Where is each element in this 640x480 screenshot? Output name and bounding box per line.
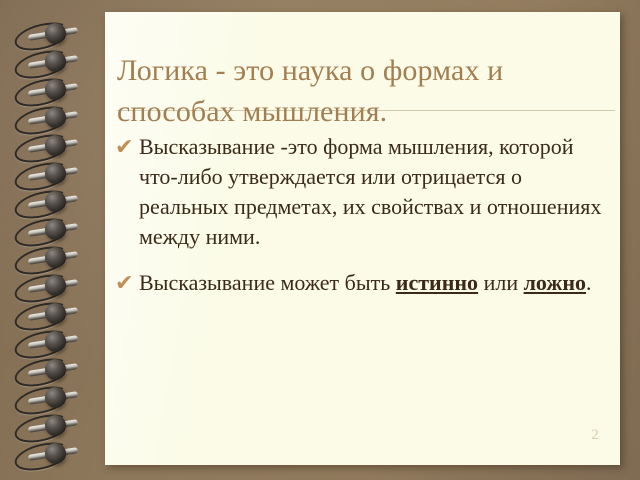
bullet-list: ✔Высказывание -это форма мышления, котор…: [105, 132, 605, 314]
spiral-ring-bead: [45, 163, 66, 184]
text-run: .: [586, 270, 592, 295]
text-run: или: [478, 270, 524, 295]
spiral-ring-bead: [45, 135, 66, 156]
check-icon: ✔: [115, 268, 133, 298]
bullet-text: Высказывание может быть истинно или ложн…: [139, 270, 592, 295]
spiral-ring-bead: [45, 275, 66, 296]
text-run: Высказывание может быть: [139, 270, 396, 295]
spiral-ring-bead: [45, 415, 66, 436]
page-number: 2: [575, 427, 615, 444]
spiral-ring-bead: [45, 359, 66, 380]
slide: Логика - это наука о формах и способах м…: [0, 0, 640, 480]
spiral-ring-bead: [45, 107, 66, 128]
spiral-ring-bead: [45, 219, 66, 240]
check-icon: ✔: [115, 132, 133, 162]
spiral-ring-bead: [45, 387, 66, 408]
bullet-item: ✔Высказывание может быть истинно или лож…: [105, 268, 605, 298]
spiral-ring-bead: [45, 303, 66, 324]
bullet-item: ✔Высказывание -это форма мышления, котор…: [105, 132, 605, 252]
spiral-ring-bead: [45, 247, 66, 268]
bullet-text: Высказывание -это форма мышления, которо…: [139, 134, 601, 249]
spiral-ring-bead: [45, 331, 66, 352]
spiral-ring-bead: [45, 79, 66, 100]
spiral-ring-bead: [45, 443, 66, 464]
spiral-ring-bead: [45, 191, 66, 212]
slide-content: Логика - это наука о формах и способах м…: [105, 12, 620, 465]
emphasized-term: ложно: [524, 270, 586, 295]
spiral-ring-bead: [45, 23, 66, 44]
emphasized-term: истинно: [396, 270, 478, 295]
slide-title: Логика - это наука о формах и способах м…: [117, 50, 615, 132]
text-run: Высказывание -это форма мышления, которо…: [139, 134, 601, 249]
spiral-ring-bead: [45, 51, 66, 72]
